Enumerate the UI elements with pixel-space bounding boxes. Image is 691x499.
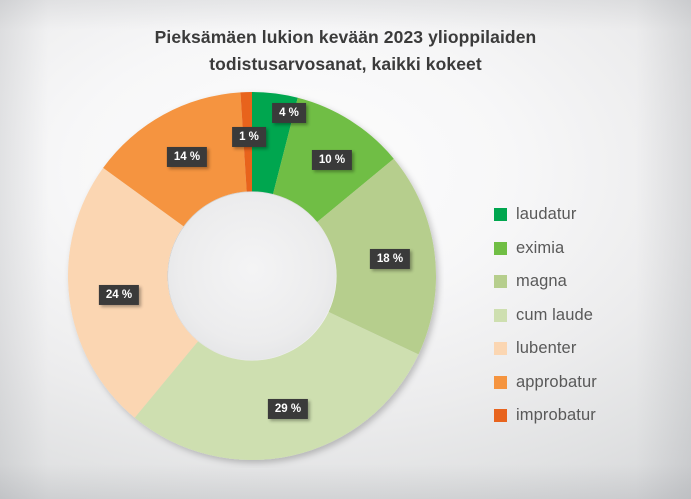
legend-item-eximia[interactable]: eximia xyxy=(494,232,644,266)
legend-item-label: eximia xyxy=(516,239,564,258)
legend-item-cum-laude[interactable]: cum laude xyxy=(494,299,644,333)
legend-item-label: cum laude xyxy=(516,306,593,325)
legend-swatch-icon xyxy=(494,376,507,389)
legend-item-label: lubenter xyxy=(516,339,576,358)
legend-swatch-icon xyxy=(494,409,507,422)
chart-title-line-1: Pieksämäen lukion kevään 2023 ylioppilai… xyxy=(0,24,691,51)
data-label-approbatur: 14 % xyxy=(167,147,207,167)
legend-item-laudatur[interactable]: laudatur xyxy=(494,198,644,232)
chart-title: Pieksämäen lukion kevään 2023 ylioppilai… xyxy=(0,24,691,78)
legend-item-lubenter[interactable]: lubenter xyxy=(494,332,644,366)
data-label-lubenter: 24 % xyxy=(99,285,139,305)
legend-swatch-icon xyxy=(494,275,507,288)
legend-swatch-icon xyxy=(494,242,507,255)
data-label-magna: 18 % xyxy=(370,249,410,269)
chart-legend: laudatureximiamagnacum laudelubenterappr… xyxy=(494,198,644,433)
legend-item-label: laudatur xyxy=(516,205,576,224)
legend-item-improbatur[interactable]: improbatur xyxy=(494,399,644,433)
legend-item-approbatur[interactable]: approbatur xyxy=(494,366,644,400)
legend-swatch-icon xyxy=(494,208,507,221)
doughnut-hole xyxy=(168,192,336,360)
data-label-cum-laude: 29 % xyxy=(268,399,308,419)
data-label-laudatur: 4 % xyxy=(272,103,306,123)
legend-swatch-icon xyxy=(494,309,507,322)
legend-item-label: approbatur xyxy=(516,373,597,392)
chart-title-line-2: todistusarvosanat, kaikki kokeet xyxy=(0,51,691,78)
legend-swatch-icon xyxy=(494,342,507,355)
legend-item-magna[interactable]: magna xyxy=(494,265,644,299)
data-label-improbatur: 1 % xyxy=(232,127,266,147)
legend-item-label: magna xyxy=(516,272,567,291)
legend-item-label: improbatur xyxy=(516,406,596,425)
chart-canvas: Pieksämäen lukion kevään 2023 ylioppilai… xyxy=(0,0,691,499)
data-label-eximia: 10 % xyxy=(312,150,352,170)
